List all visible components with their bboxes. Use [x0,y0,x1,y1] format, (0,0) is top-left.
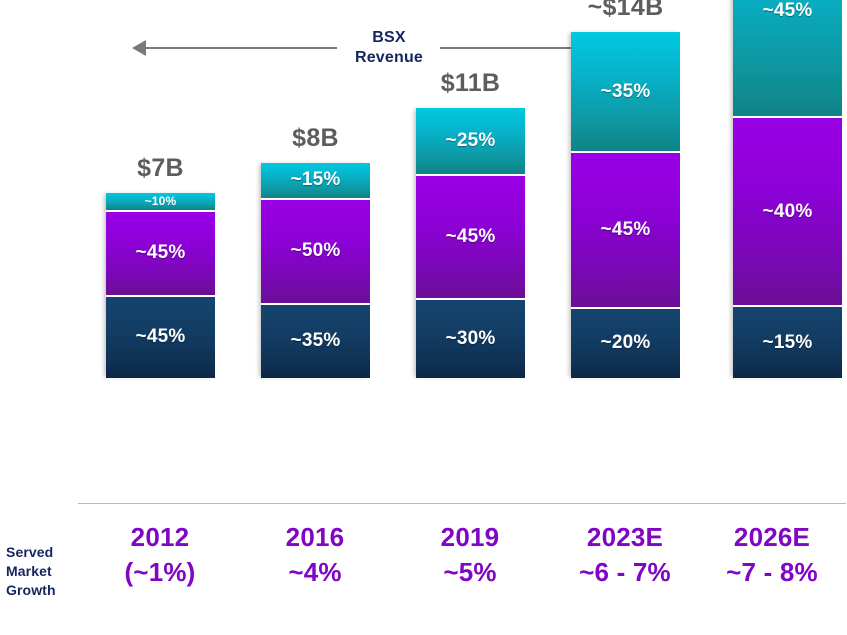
axis-growth: ~7 - 8% [697,555,847,590]
axis-label-2019: 2019~5% [395,520,545,590]
served-market-growth-line3: Growth [6,581,92,600]
bar-segment-teal[interactable]: ~15% [261,163,370,200]
bar-segment-navy[interactable]: ~45% [106,297,215,378]
axis-label-2012: 2012(~1%) [85,520,235,590]
bar-segment-navy[interactable]: ~15% [733,307,842,378]
bar-stack: ~15%~50%~35% [261,163,370,378]
chart-canvas: BSX Revenue $7B~10%~45%~45%$8B~15%~50%~3… [0,0,847,635]
axis-year: 2019 [395,520,545,555]
bar-segment-purple[interactable]: ~45% [416,176,525,300]
axis-label-2026e: 2026E~7 - 8% [697,520,847,590]
served-market-growth-line2: Market [6,562,92,581]
bar-total-label: $11B [402,69,539,98]
bar-group-2016[interactable]: $8B~15%~50%~35% [261,163,370,378]
bar-stack: ~25%~45%~30% [416,108,525,378]
axis-growth: ~5% [395,555,545,590]
bar-group-2023e[interactable]: ~$14B~35%~45%~20% [571,32,680,378]
axis-growth: ~4% [240,555,390,590]
bar-segment-teal[interactable]: ~10% [106,193,215,212]
bar-total-label: $8B [247,124,384,153]
plot-area: $7B~10%~45%~45%$8B~15%~50%~35%$11B~25%~4… [0,0,847,510]
bar-segment-navy[interactable]: ~35% [261,305,370,378]
served-market-growth-line1: Served [6,543,92,562]
bar-segment-navy[interactable]: ~20% [571,309,680,378]
bar-segment-purple[interactable]: ~45% [106,212,215,297]
axis-label-2023e: 2023E~6 - 7% [550,520,700,590]
bar-segment-teal[interactable]: ~45% [733,0,842,118]
bar-total-label: ~$14B [557,0,694,22]
bar-stack: ~45%~40%~15% [733,0,842,378]
bar-stack: ~10%~45%~45% [106,193,215,378]
bar-segment-purple[interactable]: ~40% [733,118,842,307]
bar-segment-purple[interactable]: ~50% [261,200,370,305]
axis-baseline [78,503,846,504]
bar-segment-navy[interactable]: ~30% [416,300,525,378]
bar-group-2019[interactable]: $11B~25%~45%~30% [416,108,525,378]
bar-segment-purple[interactable]: ~45% [571,153,680,309]
bar-segment-teal[interactable]: ~35% [571,32,680,153]
bar-group-2026e[interactable]: ~45%~40%~15% [733,0,842,378]
served-market-growth-title: Served Market Growth [6,543,92,600]
bar-stack: ~35%~45%~20% [571,32,680,378]
bar-group-2012[interactable]: $7B~10%~45%~45% [106,193,215,378]
axis-year: 2012 [85,520,235,555]
axis-label-2016: 2016~4% [240,520,390,590]
axis-year: 2023E [550,520,700,555]
axis-label-row: Served Market Growth 2012(~1%)2016~4%201… [0,520,847,635]
axis-growth: ~6 - 7% [550,555,700,590]
bar-total-label: $7B [92,154,229,183]
axis-year: 2016 [240,520,390,555]
axis-year: 2026E [697,520,847,555]
bar-segment-teal[interactable]: ~25% [416,108,525,176]
axis-growth: (~1%) [85,555,235,590]
